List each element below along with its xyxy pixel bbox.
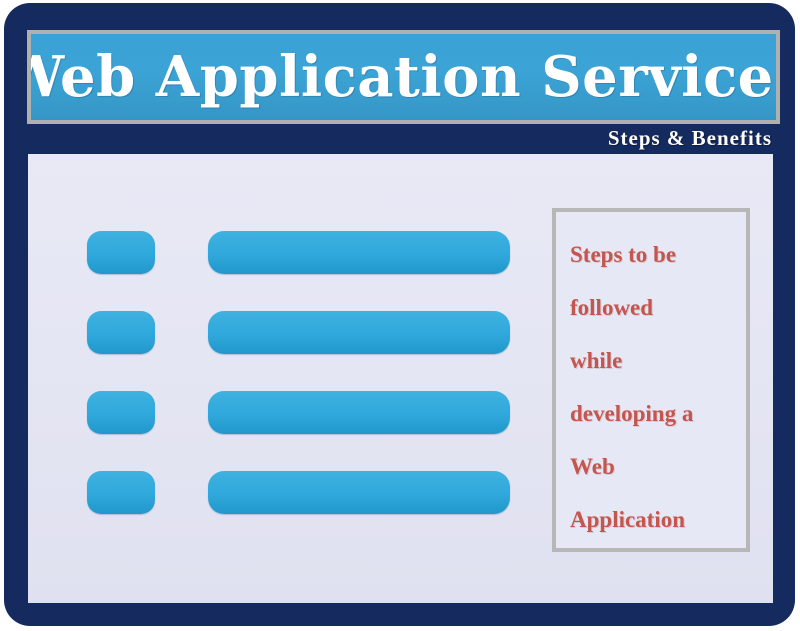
placeholder-bar	[208, 311, 510, 354]
bullet-marker-icon	[87, 311, 155, 354]
caption-line: Web	[570, 440, 736, 493]
title-band-inner: Web Application Services	[31, 34, 776, 120]
list-item	[87, 471, 510, 514]
content-panel: Steps to be followed while developing a …	[28, 154, 773, 603]
caption-line: Application	[570, 493, 736, 546]
placeholder-bar	[208, 231, 510, 274]
list-item	[87, 391, 510, 434]
caption-box-inner: Steps to be followed while developing a …	[556, 212, 746, 548]
page-title: Web Application Services	[31, 49, 776, 105]
caption-box: Steps to be followed while developing a …	[552, 208, 750, 552]
slide-canvas: Web Application Services Steps & Benefit…	[0, 0, 800, 631]
bullet-marker-icon	[87, 391, 155, 434]
caption-line: developing a	[570, 387, 736, 440]
bullet-marker-icon	[87, 231, 155, 274]
page-subtitle: Steps & Benefits	[608, 126, 772, 151]
placeholder-bar	[208, 391, 510, 434]
caption-line: while	[570, 334, 736, 387]
caption-line: followed	[570, 281, 736, 334]
placeholder-bar	[208, 471, 510, 514]
list-item	[87, 311, 510, 354]
title-band: Web Application Services	[27, 30, 780, 124]
caption-line: Steps to be	[570, 228, 736, 281]
list-item	[87, 231, 510, 274]
bullet-marker-icon	[87, 471, 155, 514]
